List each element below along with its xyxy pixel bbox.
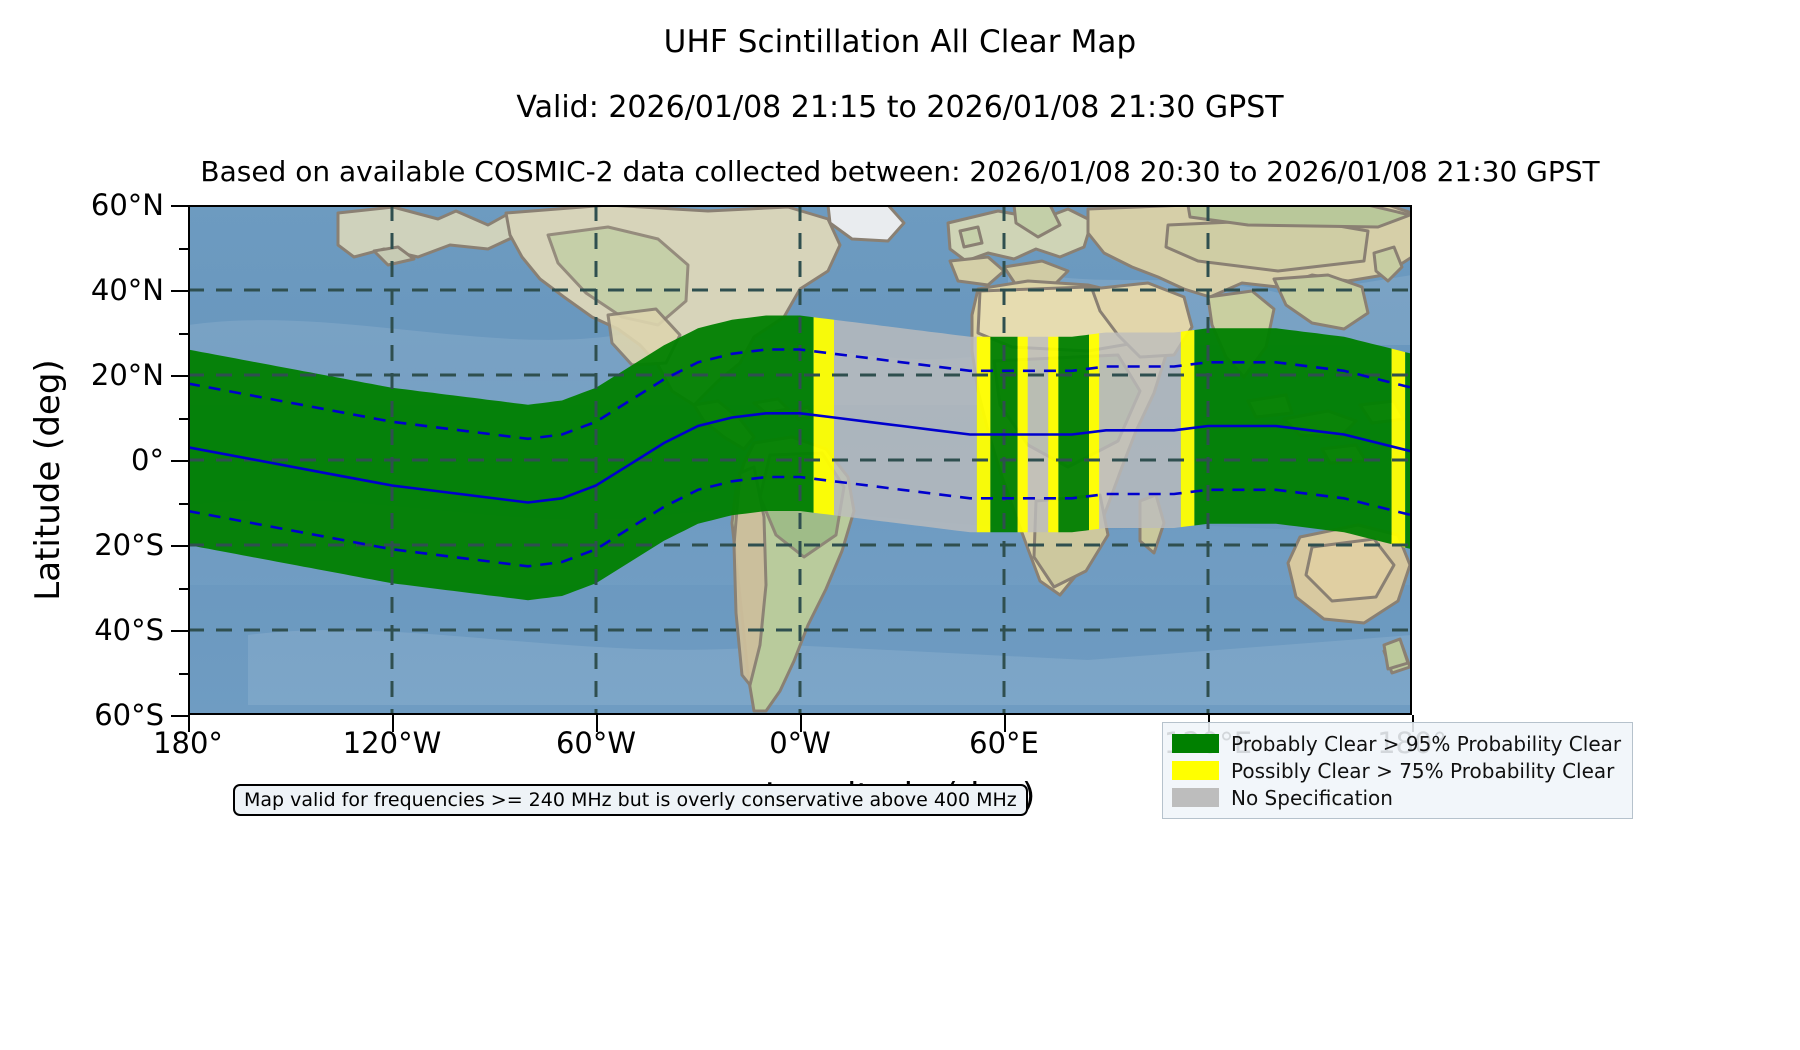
- legend-item-probably-clear[interactable]: Probably Clear > 95% Probability Clear: [1172, 730, 1621, 757]
- y-tick-mark: [171, 630, 188, 632]
- y-tick-label-60S: 60°S: [0, 698, 164, 732]
- y-tick-minor: [179, 588, 188, 590]
- y-tick-label-60N: 60°N: [0, 188, 164, 222]
- x-tick-mark: [800, 715, 802, 732]
- y-tick-mark: [171, 460, 188, 462]
- legend-label-probably-clear: Probably Clear > 95% Probability Clear: [1231, 732, 1621, 756]
- map-plot-area[interactable]: [188, 205, 1412, 715]
- y-tick-label-20N: 20°N: [0, 358, 164, 392]
- legend-swatch-possibly-clear: [1172, 761, 1219, 780]
- title-block: UHF Scintillation All Clear Map Valid: 2…: [0, 0, 1800, 188]
- map-legend[interactable]: Probably Clear > 95% Probability ClearPo…: [1162, 722, 1633, 819]
- x-tick-mark: [596, 715, 598, 732]
- y-tick-minor: [179, 248, 188, 250]
- page-title: UHF Scintillation All Clear Map: [0, 24, 1800, 60]
- y-tick-label-0: 0°: [0, 443, 164, 477]
- x-tick-mark: [392, 715, 394, 732]
- legend-swatch-probably-clear: [1172, 734, 1219, 753]
- y-tick-label-20S: 20°S: [0, 528, 164, 562]
- legend-label-possibly-clear: Possibly Clear > 75% Probability Clear: [1231, 759, 1614, 783]
- y-tick-minor: [179, 503, 188, 505]
- y-tick-mark: [171, 545, 188, 547]
- data-source-title: Based on available COSMIC-2 data collect…: [0, 155, 1800, 188]
- y-tick-minor: [179, 333, 188, 335]
- x-tick-mark: [188, 715, 190, 732]
- legend-label-no-specification: No Specification: [1231, 786, 1393, 810]
- y-tick-mark: [171, 375, 188, 377]
- y-tick-label-40S: 40°S: [0, 613, 164, 647]
- band-segment-probably-clear: [1194, 328, 1391, 544]
- y-tick-mark: [171, 205, 188, 207]
- y-tick-label-40N: 40°N: [0, 273, 164, 307]
- y-tick-minor: [179, 673, 188, 675]
- legend-item-possibly-clear[interactable]: Possibly Clear > 75% Probability Clear: [1172, 757, 1621, 784]
- y-tick-minor: [179, 418, 188, 420]
- y-axis-title: Latitude (deg): [28, 220, 68, 740]
- legend-swatch-no-specification: [1172, 788, 1219, 807]
- valid-time-title: Valid: 2026/01/08 21:15 to 2026/01/08 21…: [0, 90, 1800, 125]
- frequency-validity-note: Map valid for frequencies >= 240 MHz but…: [233, 784, 1028, 816]
- y-tick-mark: [171, 715, 188, 717]
- x-tick-mark: [1004, 715, 1006, 732]
- scintillation-map[interactable]: [188, 205, 1412, 715]
- note-text: Map valid for frequencies >= 240 MHz but…: [244, 789, 1017, 811]
- y-tick-mark: [171, 290, 188, 292]
- legend-item-no-specification[interactable]: No Specification: [1172, 784, 1621, 811]
